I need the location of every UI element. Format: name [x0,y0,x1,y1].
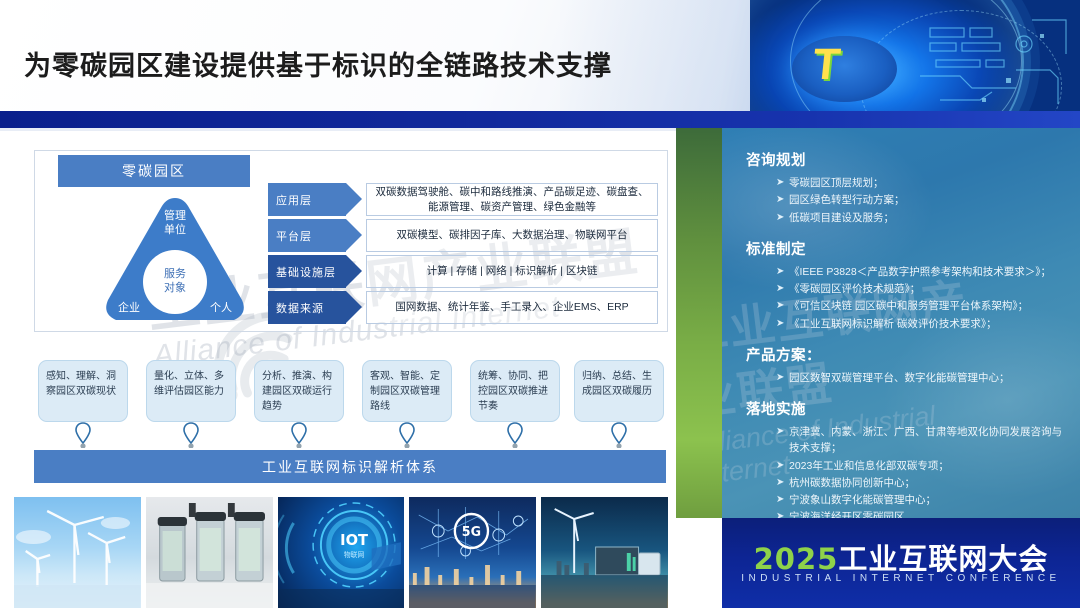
5g-city-photo: 5G [409,497,536,608]
bullet-item: ➤园区数智双碳管理平台、数字化能碳管理中心； [776,370,1066,386]
bullet-text: 《工业互联网标识解析 碳效评价技术要求》； [789,316,1066,332]
bullet-item: ➤宁波象山数字化能碳管理中心； [776,492,1066,508]
svg-text:IOT: IOT [340,532,369,549]
bullet-item: ➤杭州碳数据协同创新中心； [776,475,1066,491]
capability-card: 分析、推演、构建园区双碳运行趋势 [254,360,344,422]
layer-row: 应用层 双碳数据驾驶舱、碳中和路线推演、产品碳足迹、碳盘查、能源管理、碳资产管理… [268,183,658,216]
layer-body: 国网数据、统计年鉴、手工录入、企业EMS、ERP [366,291,658,324]
arrow-bullet-icon: ➤ [776,492,789,508]
bullet-item: ➤《可信区块链 园区碳中和服务管理平台体系架构》； [776,298,1066,314]
wind-energy-storage-photo [541,497,668,608]
bullet-item: ➤《工业互联网标识解析 碳效评价技术要求》； [776,316,1066,332]
bullet-text: 《零碳园区评价技术规范》； [789,281,1066,297]
tech-lens [792,36,897,102]
location-pin-icon [399,422,415,448]
arrow-bullet-icon: ➤ [776,264,789,280]
capability-card-row: 感知、理解、洞察园区双碳现状 量化、立体、多维评估园区能力 分析、推演、构建园区… [34,360,666,426]
conference-name-en: INDUSTRIAL INTERNET CONFERENCE [741,573,1060,584]
section-heading: 咨询规划 [746,149,1066,170]
photo-strip: IOT 物联网 5G [14,497,668,608]
triangle-label-top: 管理单位 [150,210,200,238]
iot-ring-icon: IOT 物联网 [278,497,405,608]
conference-year: 2025 [754,542,839,576]
bullet-text: 低碳项目建设及服务； [789,210,1066,226]
layer-body: 计算 | 存储 | 网络 | 标识解析 | 区块链 [366,255,658,288]
arrow-bullet-icon: ➤ [776,509,789,518]
conference-logo-bar: 2025工业互联网大会 INDUSTRIAL INTERNET CONFEREN… [722,518,1080,608]
conference-name-cn: 工业互联网大会 [838,544,1048,576]
gate-turnstiles-photo [146,497,273,608]
capability-card: 客观、智能、定制园区双碳管理路线 [362,360,452,422]
location-pin-icon [183,422,199,448]
location-pin-icon [611,422,627,448]
triangle-center-circle: 服务对象 [143,250,207,314]
turbine-shapes-icon [14,497,141,608]
turnstile-shapes-icon [146,497,273,608]
section-heading: 产品方案： [746,344,1066,365]
conference-logo-main: 2025工业互联网大会 [754,536,1049,578]
bullet-text: 零碳园区顶层规划； [789,175,1066,191]
panel-content: 咨询规划 ➤零碳园区顶层规划； ➤园区绿色转型行动方案； ➤低碳项目建设及服务；… [722,128,1080,518]
bullet-item: ➤2023年工业和信息化部双碳专项； [776,458,1066,474]
stakeholder-triangle: 管理单位 企业 个人 服务对象 [100,192,250,328]
bullet-item: ➤零碳园区顶层规划； [776,175,1066,191]
layer-tag: 数据来源 [268,291,346,324]
bullet-text: 京津冀、内蒙、浙江、广西、甘肃等地双化协同发展咨询与技术支撑； [789,424,1066,457]
tech-circuit-icon [920,14,1070,110]
bullet-item: ➤《零碳园区评价技术规范》； [776,281,1066,297]
arrow-bullet-icon: ➤ [776,424,789,440]
5g-network-icon: 5G [409,497,536,608]
section-heading: 标准制定 [746,238,1066,259]
bullet-item: ➤宁波海洋经开区零碳园区 [776,509,1066,518]
section-heading: 落地实施 [746,398,1066,419]
triangle-label-left: 企业 [108,302,150,316]
arrow-bullet-icon: ➤ [776,192,789,208]
storage-container-icon [541,497,668,608]
bullet-text: 宁波海洋经开区零碳园区 [789,509,1066,518]
page-title: 为零碳园区建设提供基于标识的全链路技术支撑 [24,44,612,83]
bullet-item: ➤《IEEE P3828＜产品数字护照参考架构和技术要求＞》； [776,264,1066,280]
arrow-bullet-icon: ➤ [776,281,789,297]
layer-row: 基础设施层 计算 | 存储 | 网络 | 标识解析 | 区块链 [268,255,658,288]
capability-card: 感知、理解、洞察园区双碳现状 [38,360,128,422]
arrow-bullet-icon: ➤ [776,370,789,386]
arrow-bullet-icon: ➤ [776,475,789,491]
slide-canvas: T 为零碳园区建设提供基于标识的全链路技术支撑 工业互联网产业联盟 Allian… [0,0,1080,608]
bullet-text: 《IEEE P3828＜产品数字护照参考架构和技术要求＞》； [789,264,1066,280]
bullet-item: ➤京津冀、内蒙、浙江、广西、甘肃等地双化协同发展咨询与技术支撑； [776,424,1066,457]
layer-tag: 平台层 [268,219,346,252]
header-tech-graphic: T [750,0,1080,112]
arrow-bullet-icon: ➤ [776,175,789,191]
arrow-bullet-icon: ➤ [776,458,789,474]
bullet-item: ➤低碳项目建设及服务； [776,210,1066,226]
capability-card: 量化、立体、多维评估园区能力 [146,360,236,422]
service-offerings-panel: 工业互联网产业联盟 Alliance of Industrial Interne… [722,128,1080,518]
svg-text:5G: 5G [462,525,481,540]
bullet-text: 园区数智双碳管理平台、数字化能碳管理中心； [789,370,1066,386]
layer-stack: 应用层 双碳数据驾驶舱、碳中和路线推演、产品碳足迹、碳盘查、能源管理、碳资产管理… [268,183,658,327]
location-pin-icon [507,422,523,448]
tech-t-logo-icon: T [810,40,842,90]
layer-tag: 基础设施层 [268,255,346,288]
green-grass-band [676,128,724,518]
location-pin-icon [291,422,307,448]
arrow-bullet-icon: ➤ [776,298,789,314]
arrow-bullet-icon: ➤ [776,316,789,332]
wind-turbines-photo [14,497,141,608]
iot-ring-photo: IOT 物联网 [278,497,405,608]
header-divider-bar [0,111,1080,128]
layer-row: 数据来源 国网数据、统计年鉴、手工录入、企业EMS、ERP [268,291,658,324]
bullet-text: 2023年工业和信息化部双碳专项； [789,458,1066,474]
bullet-text: 杭州碳数据协同创新中心； [789,475,1066,491]
layer-body: 双碳模型、碳排因子库、大数据治理、物联网平台 [366,219,658,252]
bullet-text: 宁波象山数字化能碳管理中心； [789,492,1066,508]
bullet-item: ➤园区绿色转型行动方案； [776,192,1066,208]
location-pin-icon [75,422,91,448]
arrow-bullet-icon: ➤ [776,210,789,226]
layer-tag: 应用层 [268,183,346,216]
svg-text:物联网: 物联网 [343,550,364,559]
bullet-text: 《可信区块链 园区碳中和服务管理平台体系架构》； [789,298,1066,314]
zero-carbon-park-header: 零碳园区 [58,155,250,187]
identity-resolution-banner: 工业互联网标识解析体系 [34,450,666,483]
triangle-label-right: 个人 [200,302,242,316]
layer-row: 平台层 双碳模型、碳排因子库、大数据治理、物联网平台 [268,219,658,252]
capability-card: 统筹、协同、把控园区双碳推进节奏 [470,360,560,422]
capability-card: 归纳、总结、生成园区双碳履历 [574,360,664,422]
layer-body: 双碳数据驾驶舱、碳中和路线推演、产品碳足迹、碳盘查、能源管理、碳资产管理、绿色金… [366,183,658,216]
bullet-text: 园区绿色转型行动方案； [789,192,1066,208]
